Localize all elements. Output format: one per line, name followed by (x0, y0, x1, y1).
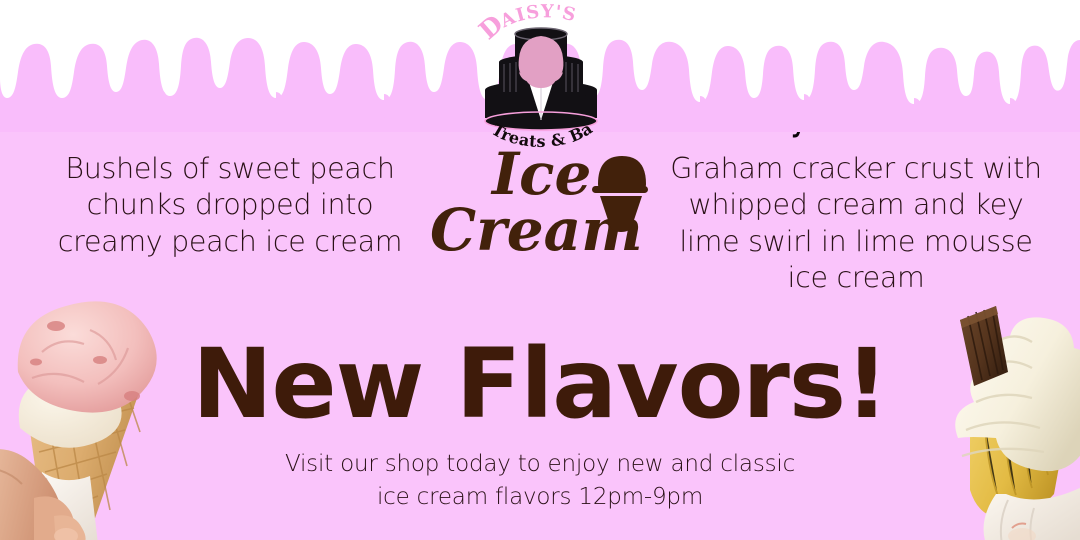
flavor-description-key-lime-pie: Graham cracker crust with whipped cream … (640, 151, 1072, 297)
tagline-line-2: ice cream flavors 12pm-9pm (0, 481, 1080, 514)
flavor-desc-line: lime swirl in lime mousse (640, 224, 1072, 260)
flavor-desc-line: chunks dropped into (14, 187, 446, 223)
tagline: Visit our shop today to enjoy new and cl… (0, 448, 1080, 513)
ice-cream-wordmark: Ice Cream (424, 142, 672, 264)
flavor-desc-line: whipped cream and key (640, 187, 1072, 223)
daisys-bakery-logo: D AISY'S (441, 2, 641, 150)
flavor-desc-line: Bushels of sweet peach (14, 151, 446, 187)
tagline-line-1: Visit our shop today to enjoy new and cl… (0, 448, 1080, 481)
headline-new-flavors: New Flavors! (0, 336, 1080, 432)
promotional-poster: D AISY'S (0, 0, 1080, 540)
flavor-description-carolina-peach: Bushels of sweet peach chunks dropped in… (14, 151, 446, 260)
flavor-desc-line: Graham cracker crust with (640, 151, 1072, 187)
flavor-desc-line: ice cream (640, 260, 1072, 296)
flavor-desc-line: creamy peach ice cream (14, 224, 446, 260)
